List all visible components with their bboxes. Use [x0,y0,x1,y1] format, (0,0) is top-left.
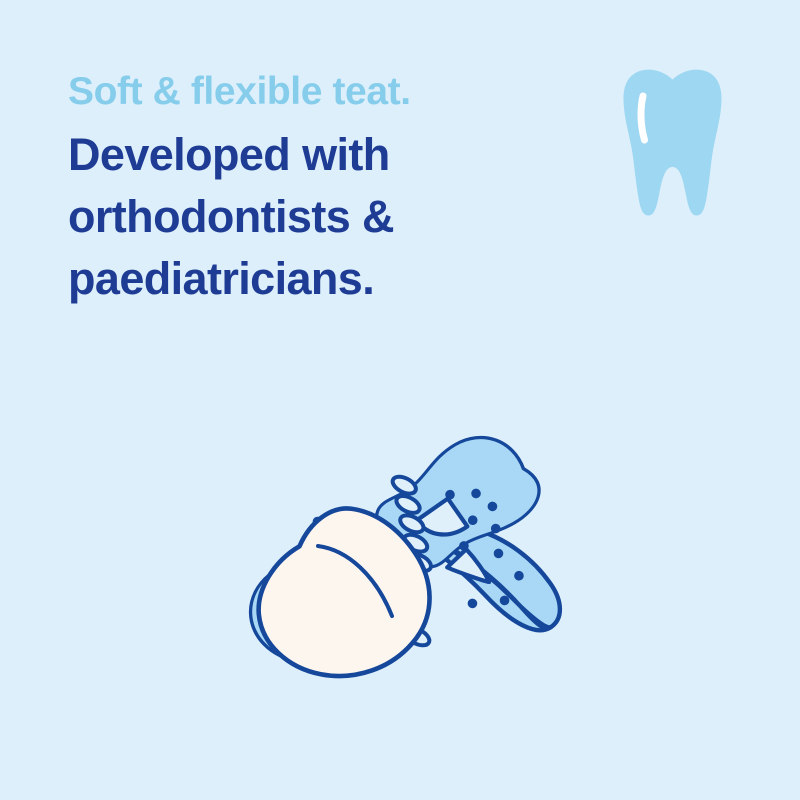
pacifier-group [228,401,585,732]
tooth-highlight-stroke [641,96,644,140]
headline-block: Soft & flexible teat. Developed with ort… [68,66,568,310]
headline-line-3: paediatricians. [68,248,568,310]
eyebrow-text: Soft & flexible teat. [68,66,568,118]
headline-line-2: orthodontists & [68,186,568,248]
tooth-body-shape [624,70,722,216]
promo-card: Soft & flexible teat. Developed with ort… [0,0,800,800]
headline-line-1: Developed with [68,124,568,186]
pacifier-illustration [228,368,594,754]
tooth-icon [620,66,724,221]
page-title: Developed with orthodontists & paediatri… [68,124,568,310]
